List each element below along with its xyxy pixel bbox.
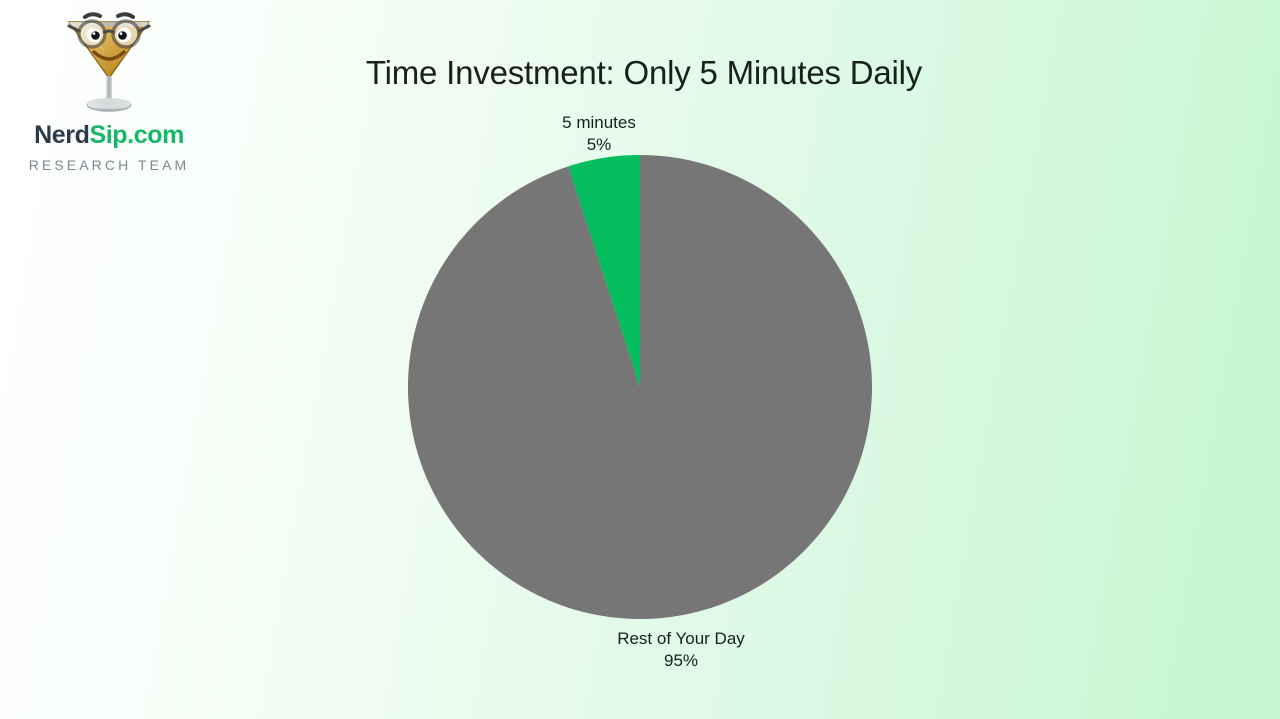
pie-label-rest-of-your-day: Rest of Your Day 95% <box>581 628 781 673</box>
pie-label-rest-of-your-day-percent: 95% <box>581 650 781 672</box>
pie-label-5-minutes: 5 minutes 5% <box>499 112 699 157</box>
slide-canvas: NerdSip.com RESEARCH TEAM Time Investmen… <box>0 0 1280 719</box>
pie-label-5-minutes-name: 5 minutes <box>499 112 699 134</box>
pie-chart-svg <box>408 155 872 619</box>
pie-chart: 5 minutes 5% Rest of Your Day 95% <box>0 0 1280 719</box>
pie-label-rest-of-your-day-name: Rest of Your Day <box>581 628 781 650</box>
pie-label-5-minutes-percent: 5% <box>499 134 699 156</box>
